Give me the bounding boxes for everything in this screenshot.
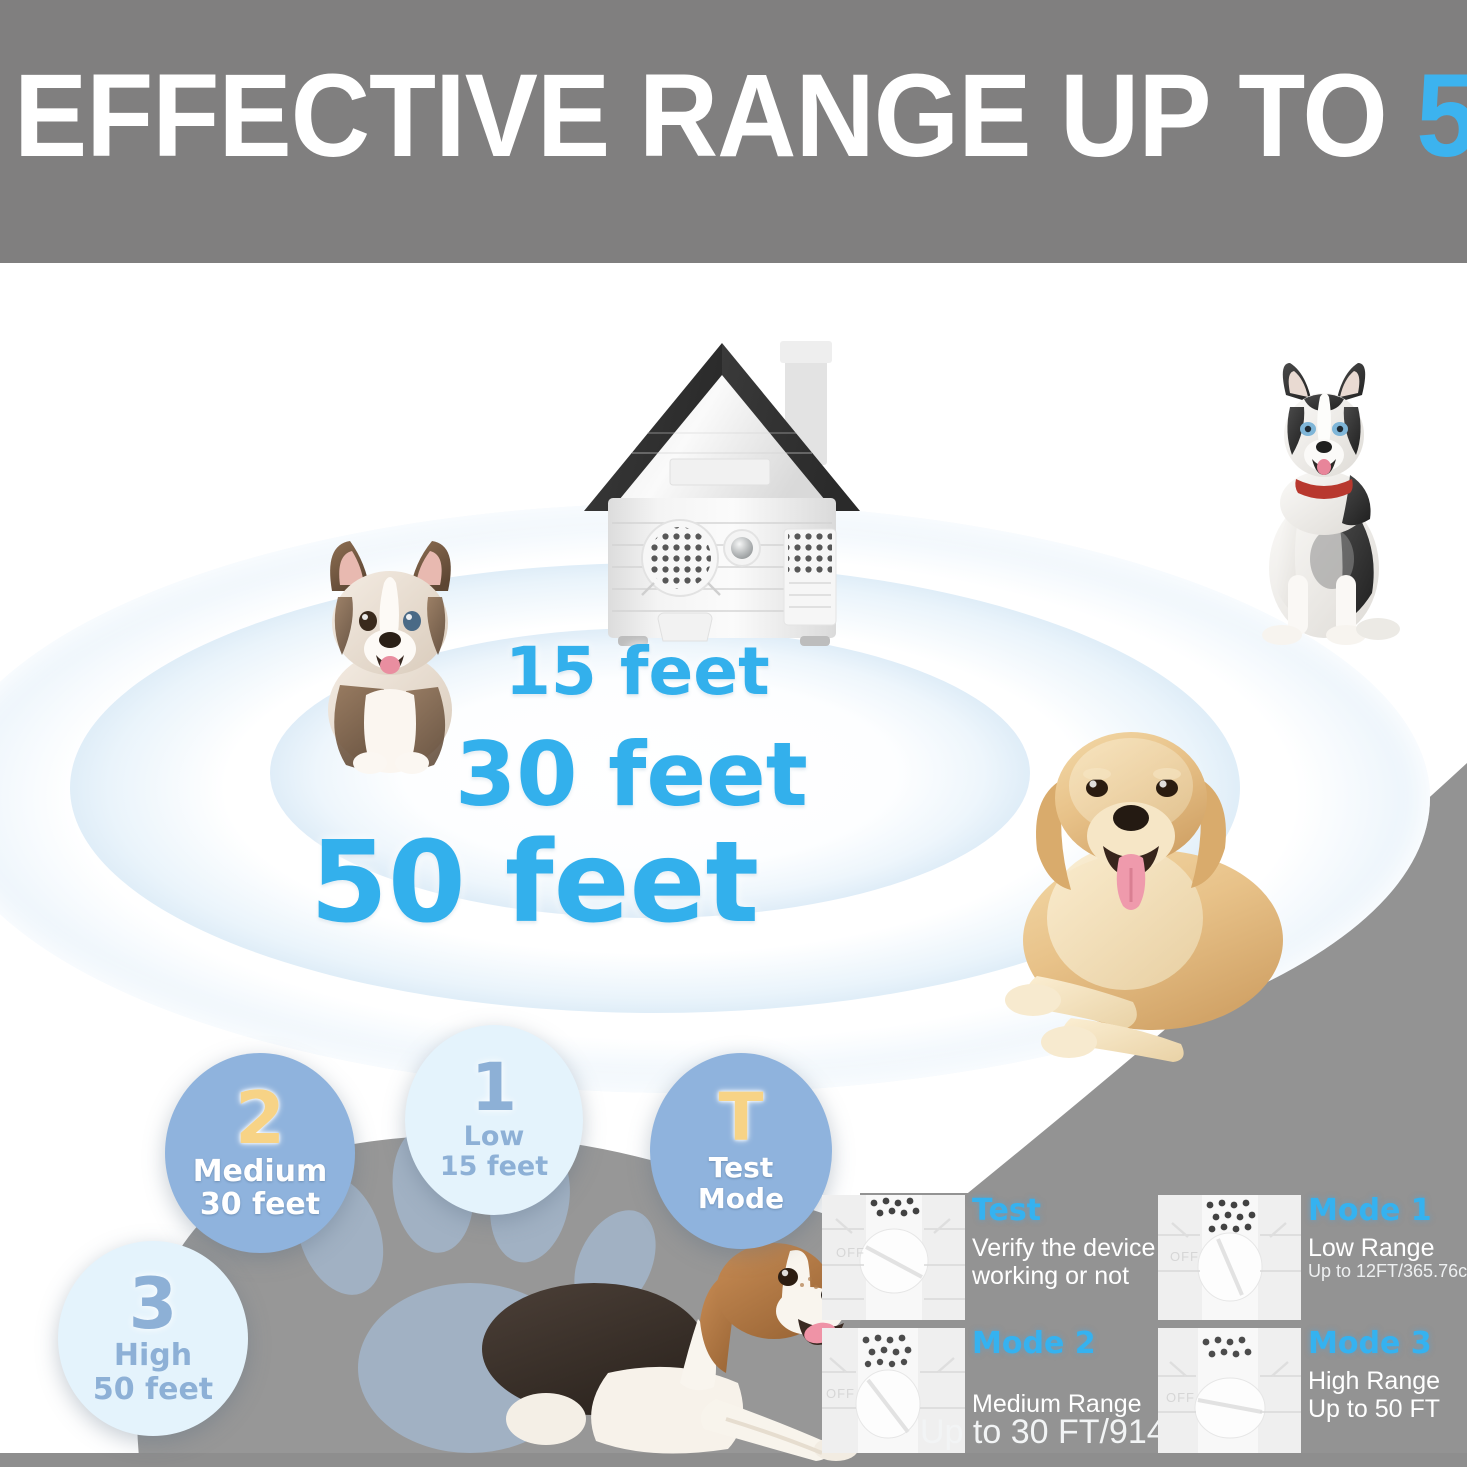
mode-badge-test-line1: Test [709,1151,773,1184]
mode-badge-test[interactable]: T Test Mode [650,1053,832,1249]
mode-badge-high-line2: 50 feet [93,1372,213,1407]
mode-badge-high-line1: High [114,1338,192,1373]
mode-panel-mode-2-title: Mode 2 [972,1328,1152,1360]
mode-panel-mode-1-desc: Low Range [1308,1234,1467,1262]
main-stage: 15 feet 30 feet 50 feet [0,263,1467,1467]
dog-photo-husky [1232,363,1417,653]
mode-badge-low-symbol: 1 [471,1057,517,1120]
mode-panel-mode-3-desc: High Range Up to 50 FT [1308,1367,1467,1423]
svg-text:OFF: OFF [826,1386,855,1401]
mode-panel-mode-1-title: Mode 1 [1308,1195,1467,1227]
svg-text:OFF: OFF [1166,1390,1195,1405]
mode-panel-mode-3-title: Mode 3 [1308,1328,1467,1360]
mode-panel-mode-2-text: Mode 2 Medium Range Up to 30 FT/914.4cm [972,1328,1152,1453]
dial-photo-test: OFF [822,1195,965,1320]
mode-badge-low-label: Low 15 feet [440,1122,548,1182]
svg-text:OFF: OFF [1170,1249,1199,1264]
range-label-30: 30 feet [455,723,808,826]
mode-badge-test-label: Test Mode [698,1152,784,1215]
mode-panel-mode-1-text: Mode 1 Low Range Up to 12FT/365.76cm [1308,1195,1467,1320]
bark-control-device [572,333,912,663]
mode-panel-mode-1-sub: Up to 12FT/365.76cm [1308,1262,1467,1282]
mode-badge-high-label: High 50 feet [93,1339,213,1406]
mode-badge-low-line2: 15 feet [440,1151,548,1182]
dog-photo-corgi [288,535,493,775]
mode-badge-medium-label: Medium 30 feet [193,1155,328,1222]
mode-panel-test-text: Test Verify the device is working or not [972,1195,1152,1320]
mode-badge-medium-line1: Medium [193,1154,328,1189]
page-title-plain: EFFECTIVE RANGE UP TO [14,50,1416,182]
mode-badge-medium[interactable]: 2 Medium 30 feet [165,1053,355,1253]
mode-badge-medium-line2: 30 feet [200,1187,320,1222]
page-title-highlight: 50 FEET [1416,50,1467,182]
mode-panel-test-desc: Verify the device is working or not [972,1234,1152,1290]
dial-photo-mode-1: OFF [1158,1195,1301,1320]
mode-panel-test-title: Test [972,1195,1152,1227]
mode-panel-mode-2-sub: Up to 30 FT/914.4cm [920,1414,1152,1451]
dial-photo-mode-3: OFF [1158,1328,1301,1453]
mode-badge-test-line2: Mode [698,1182,784,1215]
page-title: EFFECTIVE RANGE UP TO 50 FEET [14,57,1353,175]
mode-panel-test[interactable]: OFF Test Verify the device is working or… [822,1195,1144,1320]
mode-panel-mode-3[interactable]: OFF Mode 3 High Range Up to 50 FT [1158,1328,1467,1453]
mode-badge-medium-symbol: 2 [235,1084,285,1152]
mode-badge-test-symbol: T [718,1087,763,1150]
dog-photo-beagle [458,1223,858,1467]
header-bar: EFFECTIVE RANGE UP TO 50 FEET [0,0,1467,263]
mode-badge-low[interactable]: 1 Low 15 feet [405,1025,583,1215]
range-label-15: 15 feet [505,633,770,710]
mode-badge-high-symbol: 3 [129,1271,178,1338]
mode-panel-mode-3-text: Mode 3 High Range Up to 50 FT [1308,1328,1467,1453]
mode-badge-high[interactable]: 3 High 50 feet [58,1241,248,1436]
dog-photo-golden-retriever [985,718,1315,1063]
mode-panel-mode-1[interactable]: OFF Mode 1 Low Range Up to 12FT/365.76cm [1158,1195,1467,1320]
svg-text:OFF: OFF [836,1245,865,1260]
range-label-50: 50 feet [310,818,759,948]
mode-panel-grid: OFF Test Verify the device is working or… [822,1195,1467,1445]
mode-badge-low-line1: Low [464,1121,525,1152]
mode-panel-mode-2[interactable]: OFF Mode 2 Medium Range Up to 30 FT/914.… [822,1328,1144,1453]
